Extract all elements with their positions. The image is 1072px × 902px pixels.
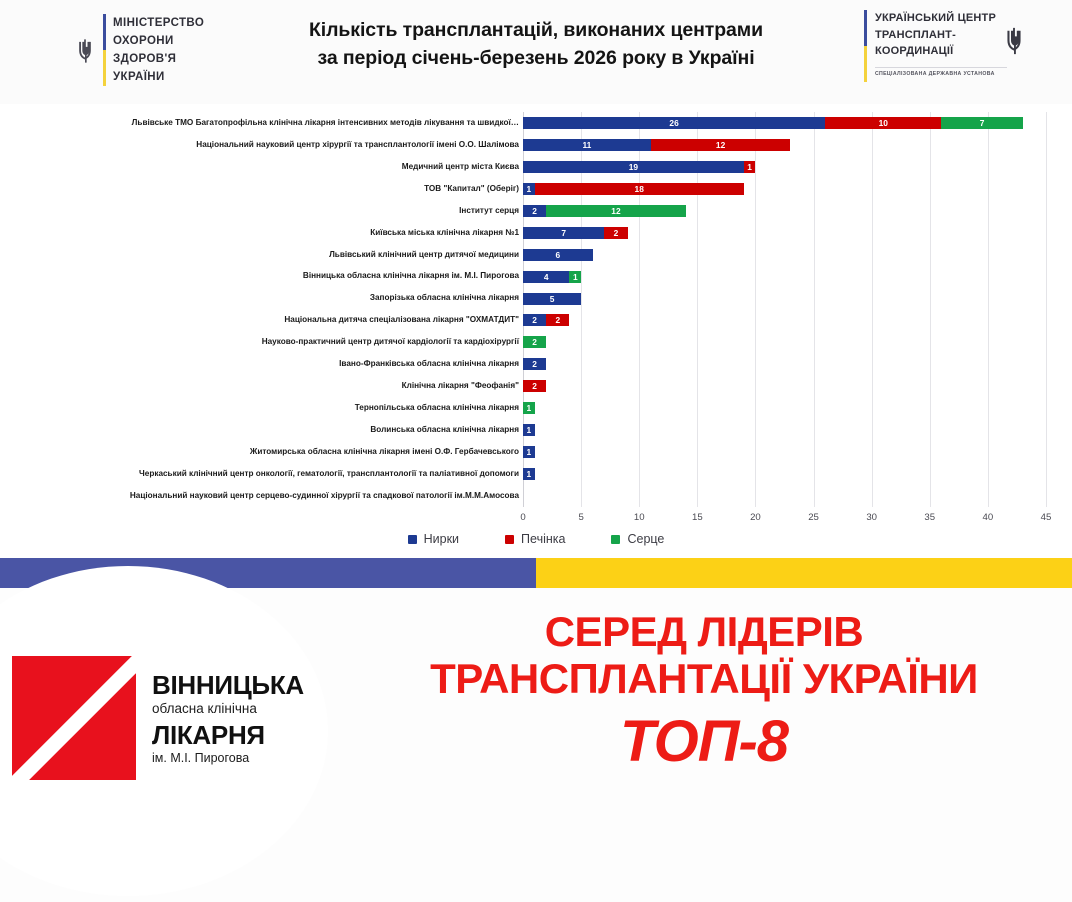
legend-item-серце[interactable]: Серце (611, 532, 664, 546)
chart-legend: НиркиПечінкаСерце (0, 532, 1072, 546)
ukraine-trident-icon (1002, 26, 1026, 56)
chart-bar-row[interactable]: Національний науковий центр серцево-суди… (523, 490, 1046, 502)
chart-category-label: Клінічна лікарня "Феофанія" (402, 382, 519, 390)
uctc-line-1: УКРАЇНСЬКИЙ ЦЕНТР (875, 10, 996, 27)
chart-category-label: Волинська обласна клінічна лікарня (370, 426, 519, 434)
page-header: МІНІСТЕРСТВО ОХОРОНИ ЗДОРОВ'Я УКРАЇНИ Кі… (0, 0, 1072, 104)
legend-item-нирки[interactable]: Нирки (408, 532, 459, 546)
chart-bar-row[interactable]: Тернопільська обласна клінічна лікарня1 (523, 402, 1046, 414)
legend-swatch-icon (611, 535, 620, 544)
chart-bar-segment-нирки[interactable]: 26 (523, 117, 825, 129)
chart-bar-segment-нирки[interactable]: 7 (523, 227, 604, 239)
chart-category-label: Тернопільська обласна клінічна лікарня (355, 404, 519, 412)
ministry-line-2: ОХОРОНИ (113, 33, 204, 51)
legend-label: Нирки (424, 532, 459, 546)
chart-bar-row[interactable]: Львівський клінічний центр дитячої медиц… (523, 249, 1046, 261)
chart-category-label: Черкаський клінічний центр онкології, ге… (139, 470, 519, 478)
ministry-line-1: МІНІСТЕРСТВО (113, 15, 204, 33)
legend-item-печінка[interactable]: Печінка (505, 532, 565, 546)
chart-bar-segment-печінка[interactable]: 1 (744, 161, 756, 173)
chart-bar-row[interactable]: ТОВ "Капитал" (Оберіг)118 (523, 183, 1046, 195)
chart-bar-row[interactable]: Запорізька обласна клінічна лікарня5 (523, 293, 1046, 305)
promo-line-1: СЕРЕД ЛІДЕРІВ (364, 608, 1044, 655)
ukraine-trident-icon (74, 36, 96, 66)
legend-swatch-icon (505, 535, 514, 544)
chart-category-label: Національний науковий центр серцево-суди… (130, 492, 519, 500)
ministry-line-4: УКРАЇНИ (113, 69, 204, 87)
chart-bar-segment-печінка[interactable]: 18 (535, 183, 744, 195)
chart-category-label: Івано-Франківська обласна клінічна лікар… (339, 360, 519, 368)
red-square-diagonal-logo-icon (12, 656, 136, 780)
chart-bar-row[interactable]: Національний науковий центр хірургії та … (523, 139, 1046, 151)
chart-bar-row[interactable]: Науково-практичний центр дитячої кардіол… (523, 336, 1046, 348)
page-title-line-2: за період січень-березень 2026 року в Ук… (236, 44, 836, 72)
x-axis-tick-35: 35 (924, 512, 935, 523)
ministry-of-health-logo: МІНІСТЕРСТВО ОХОРОНИ ЗДОРОВ'Я УКРАЇНИ (74, 14, 204, 88)
chart-bar-row[interactable]: Волинська обласна клінічна лікарня1 (523, 424, 1046, 436)
chart-bar-segment-нирки[interactable]: 6 (523, 249, 593, 261)
chart-category-label: Житомирська обласна клінічна лікарня іме… (250, 448, 519, 456)
chart-category-label: Медичний центр міста Києва (402, 163, 519, 171)
ministry-line-3: ЗДОРОВ'Я (113, 51, 204, 69)
chart-bar-row[interactable]: Медичний центр міста Києва191 (523, 161, 1046, 173)
chart-bar-row[interactable]: Івано-Франківська обласна клінічна лікар… (523, 358, 1046, 370)
flag-divider-yellow (536, 558, 1072, 588)
chart-category-label: Національний науковий центр хірургії та … (196, 141, 519, 149)
promo-line-3: ТОП-8 (364, 708, 1044, 776)
chart-bar-segment-печінка[interactable]: 10 (825, 117, 941, 129)
chart-bar-row[interactable]: Інститут серця212 (523, 205, 1046, 217)
chart-bar-segment-серце[interactable]: 12 (546, 205, 685, 217)
uctc-logo-subtitle: СПЕЦІАЛІЗОВАНА ДЕРЖАВНА УСТАНОВА (875, 67, 1007, 77)
hospital-name-line-3: ЛІКАРНЯ (152, 721, 304, 749)
chart-x-axis: 051015202530354045 (523, 512, 1046, 530)
x-axis-tick-30: 30 (866, 512, 877, 523)
x-axis-tick-25: 25 (808, 512, 819, 523)
chart-bar-segment-нирки[interactable]: 5 (523, 293, 581, 305)
transplant-coordination-center-logo: УКРАЇНСЬКИЙ ЦЕНТР ТРАНСПЛАНТ- КООРДИНАЦІ… (864, 10, 1026, 94)
chart-bar-segment-серце[interactable]: 7 (941, 117, 1022, 129)
hospital-logo-text: ВІННИЦЬКА обласна клінічна ЛІКАРНЯ ім. М… (152, 671, 304, 765)
chart-bar-rows: Львівське ТМО Багатопрофільна клінічна л… (523, 112, 1046, 507)
chart-bar-segment-нирки[interactable]: 1 (523, 468, 535, 480)
chart-category-label: Національна дитяча спеціалізована лікарн… (284, 316, 519, 324)
chart-bar-row[interactable]: Житомирська обласна клінічна лікарня іме… (523, 446, 1046, 458)
chart-bar-segment-серце[interactable]: 1 (569, 271, 581, 283)
chart-bar-row[interactable]: Клінічна лікарня "Феофанія"2 (523, 380, 1046, 392)
ministry-logo-text: МІНІСТЕРСТВО ОХОРОНИ ЗДОРОВ'Я УКРАЇНИ (113, 14, 204, 88)
chart-bar-row[interactable]: Львівське ТМО Багатопрофільна клінічна л… (523, 117, 1046, 129)
x-axis-tick-0: 0 (520, 512, 525, 523)
page-title: Кількість трансплантацій, виконаних цент… (236, 16, 836, 73)
uctc-line-3: КООРДИНАЦІЇ (875, 43, 996, 60)
vinnytsia-hospital-logo: ВІННИЦЬКА обласна клінічна ЛІКАРНЯ ім. М… (12, 656, 304, 780)
x-axis-tick-10: 10 (634, 512, 645, 523)
chart-bar-segment-серце[interactable]: 1 (523, 402, 535, 414)
chart-bar-segment-печінка[interactable]: 12 (651, 139, 790, 151)
hospital-name-line-1: ВІННИЦЬКА (152, 671, 304, 699)
promo-line-2: ТРАНСПЛАНТАЦІЇ УКРАЇНИ (364, 655, 1044, 702)
chart-bar-segment-печінка[interactable]: 2 (604, 227, 627, 239)
chart-bar-row[interactable]: Київська міська клінічна лікарня №172 (523, 227, 1046, 239)
chart-bar-segment-печінка[interactable]: 2 (546, 314, 569, 326)
uctc-logo-text: УКРАЇНСЬКИЙ ЦЕНТР ТРАНСПЛАНТ- КООРДИНАЦІ… (875, 10, 996, 60)
chart-bar-segment-нирки[interactable]: 1 (523, 424, 535, 436)
x-axis-tick-5: 5 (578, 512, 583, 523)
x-axis-tick-40: 40 (983, 512, 994, 523)
x-axis-tick-45: 45 (1041, 512, 1052, 523)
chart-bar-row[interactable]: Черкаський клінічний центр онкології, ге… (523, 468, 1046, 480)
hospital-name-line-2: обласна клінічна (152, 702, 304, 717)
page-title-line-1: Кількість трансплантацій, виконаних цент… (236, 16, 836, 44)
chart-plot-area: Львівське ТМО Багатопрофільна клінічна л… (523, 112, 1046, 507)
uctc-line-2: ТРАНСПЛАНТ- (875, 27, 996, 44)
chart-category-label: Інститут серця (459, 207, 519, 215)
chart-bar-segment-нирки[interactable]: 2 (523, 358, 546, 370)
chart-category-label: Київська міська клінічна лікарня №1 (370, 229, 519, 237)
chart-category-label: ТОВ "Капитал" (Оберіг) (424, 185, 519, 193)
legend-label: Печінка (521, 532, 565, 546)
chart-category-label: Львівський клінічний центр дитячої медиц… (329, 251, 519, 259)
chart-bar-segment-нирки[interactable]: 2 (523, 205, 546, 217)
chart-category-label: Запорізька обласна клінічна лікарня (370, 294, 519, 302)
chart-bar-segment-нирки[interactable]: 11 (523, 139, 651, 151)
chart-category-label: Львівське ТМО Багатопрофільна клінічна л… (132, 119, 519, 127)
chart-bar-row[interactable]: Вінницька обласна клінічна лікарня ім. М… (523, 271, 1046, 283)
x-axis-tick-20: 20 (750, 512, 761, 523)
page-footer: ВІННИЦЬКА обласна клінічна ЛІКАРНЯ ім. М… (0, 588, 1072, 902)
chart-bar-segment-печінка[interactable]: 2 (523, 380, 546, 392)
chart-bar-segment-нирки[interactable]: 1 (523, 446, 535, 458)
ukraine-flag-rule (864, 10, 867, 82)
chart-category-label: Науково-практичний центр дитячої кардіол… (262, 338, 519, 346)
x-axis-tick-15: 15 (692, 512, 703, 523)
chart-bar-row[interactable]: Національна дитяча спеціалізована лікарн… (523, 314, 1046, 326)
chart-bar-segment-серце[interactable]: 2 (523, 336, 546, 348)
chart-bar-segment-нирки[interactable]: 2 (523, 314, 546, 326)
legend-swatch-icon (408, 535, 417, 544)
chart-bar-segment-нирки[interactable]: 1 (523, 183, 535, 195)
chart-bar-segment-нирки[interactable]: 4 (523, 271, 569, 283)
ukraine-flag-rule (103, 14, 106, 86)
hospital-name-line-4: ім. М.І. Пирогова (152, 752, 304, 766)
transplant-chart: Львівське ТМО Багатопрофільна клінічна л… (0, 104, 1072, 558)
chart-bar-segment-нирки[interactable]: 19 (523, 161, 744, 173)
chart-category-label: Вінницька обласна клінічна лікарня ім. М… (303, 272, 519, 280)
gridline-45 (1046, 112, 1047, 507)
promo-banner: СЕРЕД ЛІДЕРІВ ТРАНСПЛАНТАЦІЇ УКРАЇНИ ТОП… (364, 608, 1044, 777)
legend-label: Серце (627, 532, 664, 546)
